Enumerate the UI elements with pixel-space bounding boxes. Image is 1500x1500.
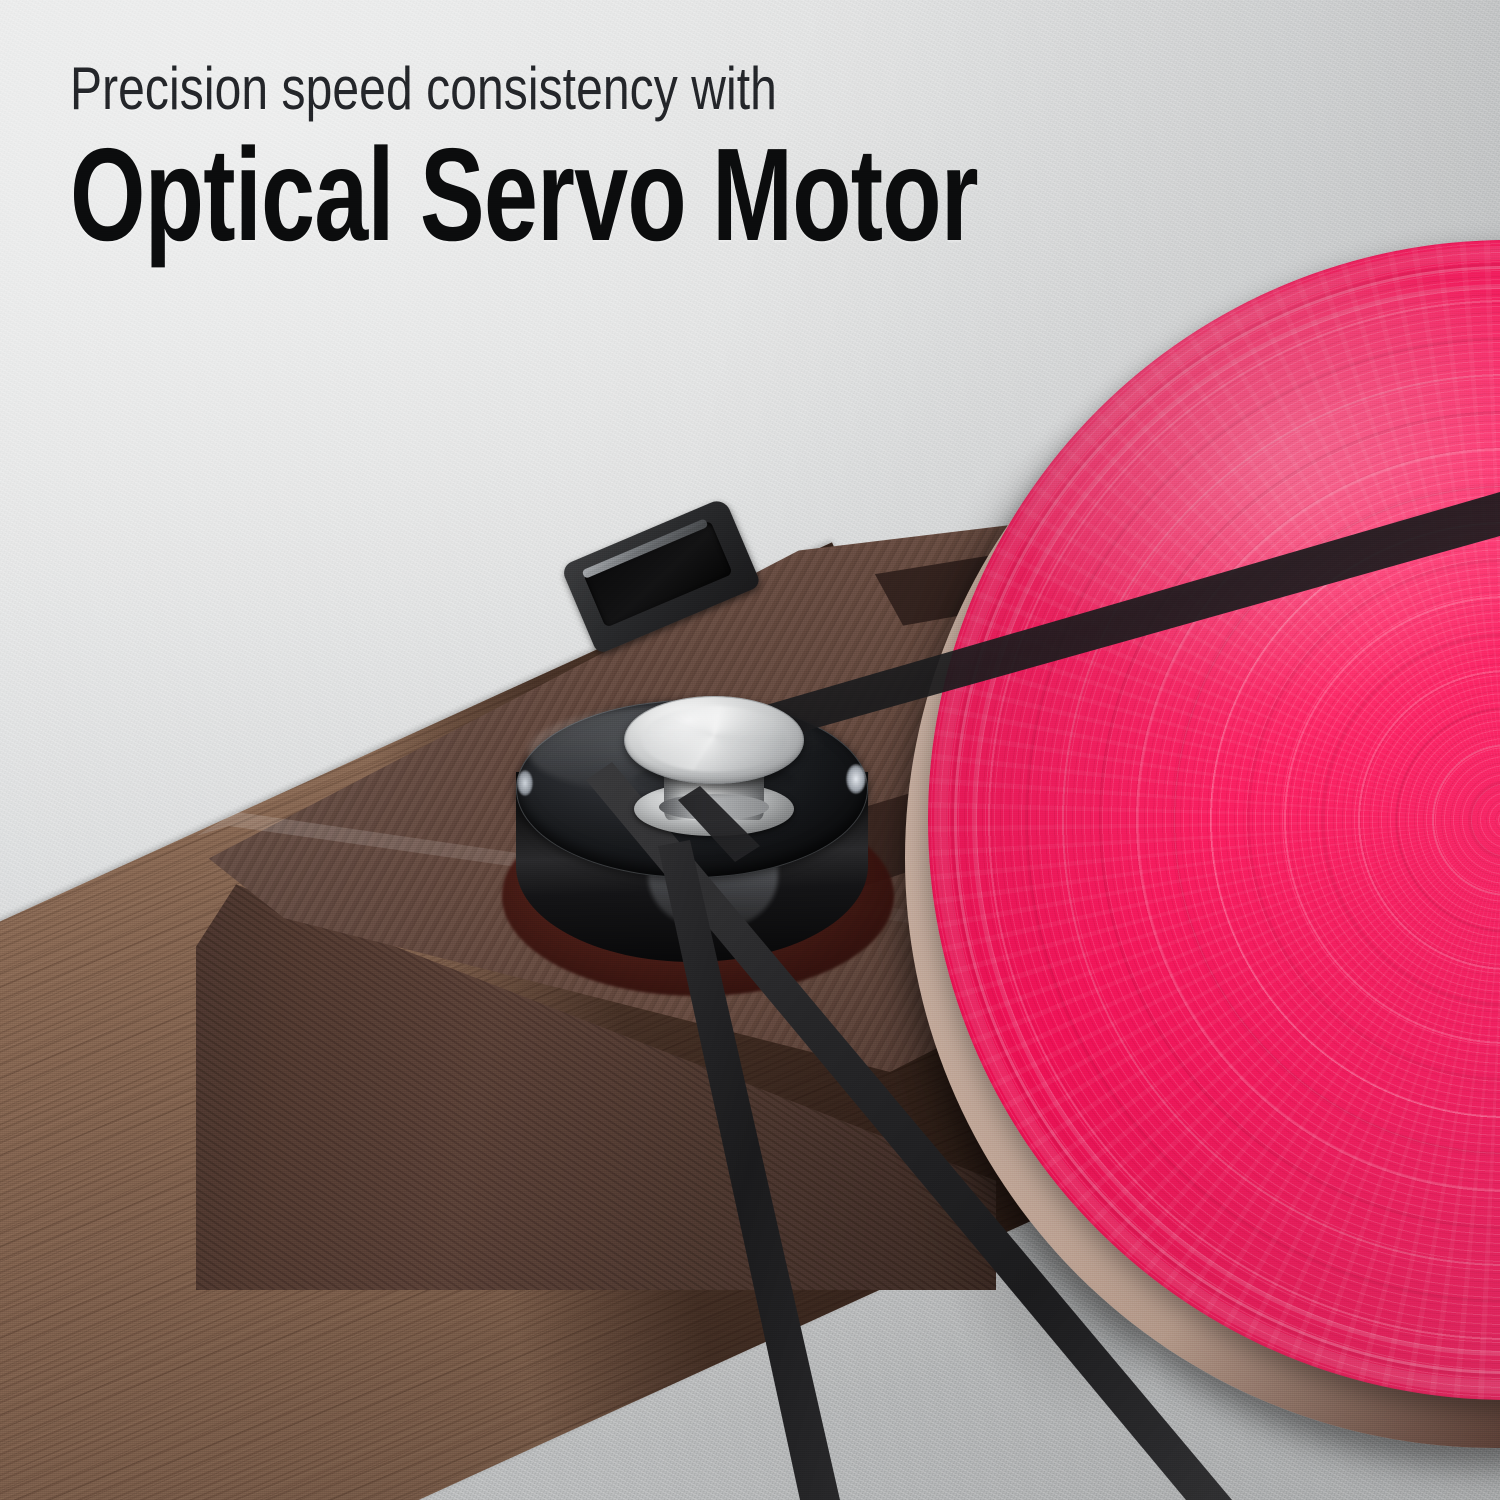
headline-kicker: Precision speed consistency with xyxy=(70,58,1134,119)
product-feature-image: Precision speed consistency with Optical… xyxy=(0,0,1500,1500)
motor-pulley-shaft-base xyxy=(659,794,769,820)
headline-block: Precision speed consistency with Optical… xyxy=(70,58,1400,261)
motor-pulley-cap-rim xyxy=(624,696,804,784)
motor-pulley xyxy=(620,690,810,860)
headline-title: Optical Servo Motor xyxy=(70,129,1048,261)
motor-disc-specular-right xyxy=(846,764,866,794)
motor-disc-specular-left xyxy=(517,770,533,796)
